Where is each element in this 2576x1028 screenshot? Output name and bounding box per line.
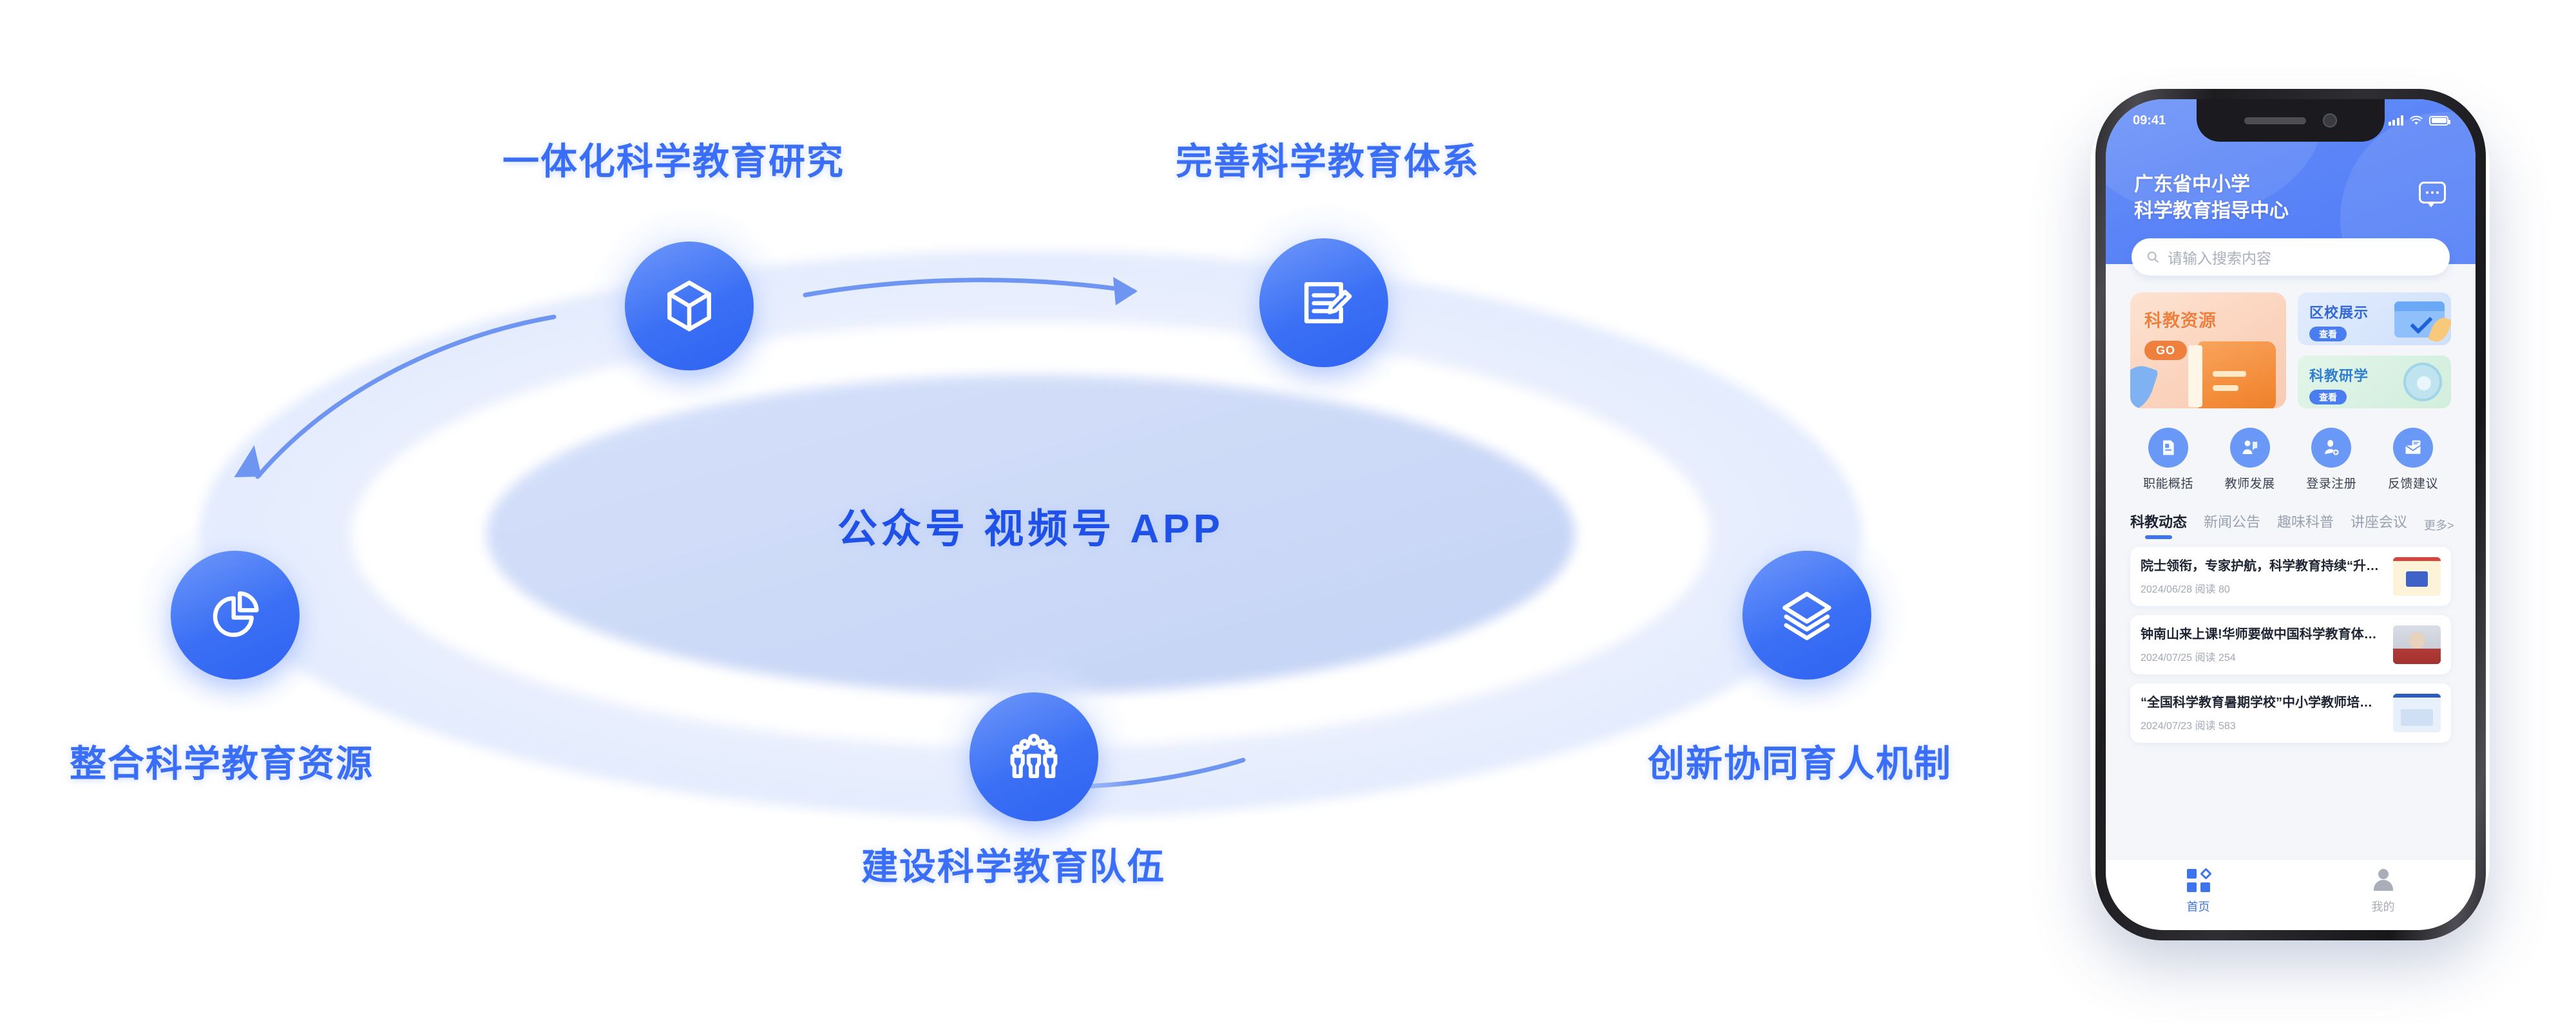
- signal-icon: [2389, 115, 2404, 126]
- node-innovate-mechanism[interactable]: [1742, 551, 1871, 680]
- quick-action-label: 教师发展: [2225, 474, 2275, 491]
- tabbar-item-profile[interactable]: 我的: [2291, 869, 2476, 915]
- news-text: “全国科学教育暑期学校”中小学教师培训(广... 2024/07/23 阅读 5…: [2141, 694, 2384, 732]
- quick-action-feedback[interactable]: 反馈建议: [2378, 428, 2448, 491]
- quick-action-label: 登录注册: [2306, 474, 2356, 491]
- app-content: 科教资源 GO 区校展示 查看: [2106, 264, 2476, 743]
- news-thumbnail: [2393, 694, 2441, 732]
- label-integrate-resources: 整合科学教育资源: [70, 734, 374, 787]
- more-link[interactable]: 更多>: [2424, 517, 2454, 533]
- news-tabs: 科教动态 新闻公告 趣味科普 讲座会议 更多>: [2130, 511, 2451, 539]
- label-build-team: 建设科学教育队伍: [861, 837, 1165, 890]
- banner-action-view[interactable]: 查看: [2309, 390, 2347, 405]
- tab-keji-dongtai[interactable]: 科教动态: [2130, 511, 2187, 539]
- search-icon: [2146, 250, 2160, 264]
- banner-column: 区校展示 查看 科教研学 查看: [2298, 292, 2451, 408]
- user-add-icon: [2311, 428, 2351, 468]
- news-meta: 2024/07/23 阅读 583: [2141, 717, 2384, 732]
- status-bar: 09:41: [2106, 99, 2476, 142]
- app-title: 广东省中小学 科学教育指导中心: [2134, 171, 2289, 225]
- tabbar-item-home[interactable]: 首页: [2106, 869, 2291, 915]
- status-indicators: [2389, 115, 2449, 126]
- news-title: “全国科学教育暑期学校”中小学教师培训(广...: [2141, 694, 2384, 711]
- pie-chart-icon: [205, 585, 265, 645]
- status-time: 09:41: [2133, 113, 2166, 128]
- grid-icon: [2187, 869, 2210, 892]
- news-title: 钟南山来上课!华师要做中国科学教育体系探索...: [2141, 626, 2384, 643]
- globe-icon: [2403, 363, 2442, 401]
- document-edit-icon: [1294, 273, 1353, 332]
- news-text: 院士领衔，专家护航，科学教育持续“升温” 2024/06/28 阅读 80: [2141, 558, 2384, 596]
- news-item[interactable]: 钟南山来上课!华师要做中国科学教育体系探索... 2024/07/25 阅读 2…: [2130, 615, 2451, 674]
- quick-action-label: 职能概括: [2143, 474, 2193, 491]
- news-title: 院士领衔，专家护航，科学教育持续“升温”: [2141, 558, 2384, 575]
- chat-bubble-icon[interactable]: [2419, 182, 2446, 204]
- news-item[interactable]: 院士领衔，专家护航，科学教育持续“升温” 2024/06/28 阅读 80: [2130, 547, 2451, 606]
- tab-xinwen-gonggao[interactable]: 新闻公告: [2204, 511, 2260, 539]
- banner-action-view[interactable]: 查看: [2309, 327, 2347, 341]
- label-innovate-mechanism: 创新协同育人机制: [1648, 734, 1952, 787]
- news-thumbnail: [2393, 625, 2441, 664]
- phone-mockup: 09:41 广东省中小学: [2071, 70, 2509, 958]
- bottom-tab-bar: 首页 我的: [2106, 859, 2476, 930]
- quick-action-teacher[interactable]: 教师发展: [2215, 428, 2285, 491]
- news-list: 院士领衔，专家护航，科学教育持续“升温” 2024/06/28 阅读 80 钟南…: [2130, 547, 2451, 743]
- news-date: 2024/07/25: [2141, 652, 2192, 663]
- banner-title: 科教资源: [2144, 307, 2286, 332]
- layers-icon: [1777, 585, 1837, 645]
- leaf-decoration: [2130, 361, 2159, 408]
- news-meta: 2024/06/28 阅读 80: [2141, 580, 2384, 596]
- cycle-diagram: 一体化科学教育研究 完善科学教育体系 整合科学教育资源 创新协同育人机制 建设科…: [0, 0, 2029, 1028]
- cube-icon: [660, 276, 719, 336]
- quick-action-label: 反馈建议: [2388, 474, 2438, 491]
- tab-quwei-kepu[interactable]: 趣味科普: [2277, 511, 2334, 539]
- wifi-icon: [2409, 115, 2423, 126]
- node-integrated-research[interactable]: [625, 242, 754, 370]
- banner-card-schools[interactable]: 区校展示 查看: [2298, 292, 2451, 345]
- book-illustration: [2199, 341, 2276, 408]
- person-icon: [2372, 869, 2394, 892]
- teacher-icon: [2230, 428, 2270, 468]
- news-date: 2024/06/28: [2141, 584, 2192, 595]
- search-input[interactable]: 请输入搜索内容: [2132, 238, 2450, 276]
- news-meta: 2024/07/25 阅读 254: [2141, 649, 2384, 664]
- news-date: 2024/07/23: [2141, 721, 2192, 732]
- tab-jiangzuo-huiyi[interactable]: 讲座会议: [2351, 511, 2407, 539]
- news-item[interactable]: “全国科学教育暑期学校”中小学教师培训(广... 2024/07/23 阅读 5…: [2130, 683, 2451, 743]
- center-channels-text: 公众号 视频号 APP: [709, 496, 1353, 554]
- battery-icon: [2429, 116, 2448, 126]
- node-integrate-resources[interactable]: [171, 551, 300, 680]
- search-placeholder: 请输入搜索内容: [2168, 246, 2271, 268]
- document-card-icon: [2148, 428, 2188, 468]
- phone-screen: 09:41 广东省中小学: [2106, 99, 2476, 930]
- app-title-line2: 科学教育指导中心: [2134, 198, 2289, 224]
- quick-action-functions[interactable]: 职能概括: [2133, 428, 2204, 491]
- news-reads: 阅读 583: [2195, 721, 2236, 732]
- news-reads: 阅读 254: [2195, 652, 2236, 663]
- tabbar-label: 首页: [2187, 898, 2210, 915]
- banner-action-go[interactable]: GO: [2144, 341, 2187, 360]
- phone-frame: 09:41 广东省中小学: [2095, 89, 2486, 940]
- quick-action-login[interactable]: 登录注册: [2296, 428, 2367, 491]
- node-improve-system[interactable]: [1259, 238, 1388, 367]
- app-title-line1: 广东省中小学: [2134, 171, 2289, 198]
- screenshot-root: 一体化科学教育研究 完善科学教育体系 整合科学教育资源 创新协同育人机制 建设科…: [0, 0, 2576, 1028]
- tabbar-label: 我的: [2372, 898, 2395, 915]
- people-group-icon: [1004, 727, 1064, 786]
- mail-icon: [2393, 428, 2433, 468]
- news-reads: 阅读 80: [2195, 584, 2230, 595]
- banner-row: 科教资源 GO 区校展示 查看: [2130, 292, 2451, 408]
- label-integrated-research: 一体化科学教育研究: [502, 132, 844, 185]
- banner-card-study[interactable]: 科教研学 查看: [2298, 356, 2451, 408]
- news-thumbnail: [2393, 557, 2441, 596]
- news-text: 钟南山来上课!华师要做中国科学教育体系探索... 2024/07/25 阅读 2…: [2141, 626, 2384, 664]
- quick-actions-row: 职能概括 教师发展 登录注册: [2130, 428, 2451, 491]
- node-build-team[interactable]: [969, 692, 1098, 821]
- label-improve-system: 完善科学教育体系: [1176, 132, 1480, 185]
- banner-card-resources[interactable]: 科教资源 GO: [2130, 292, 2286, 408]
